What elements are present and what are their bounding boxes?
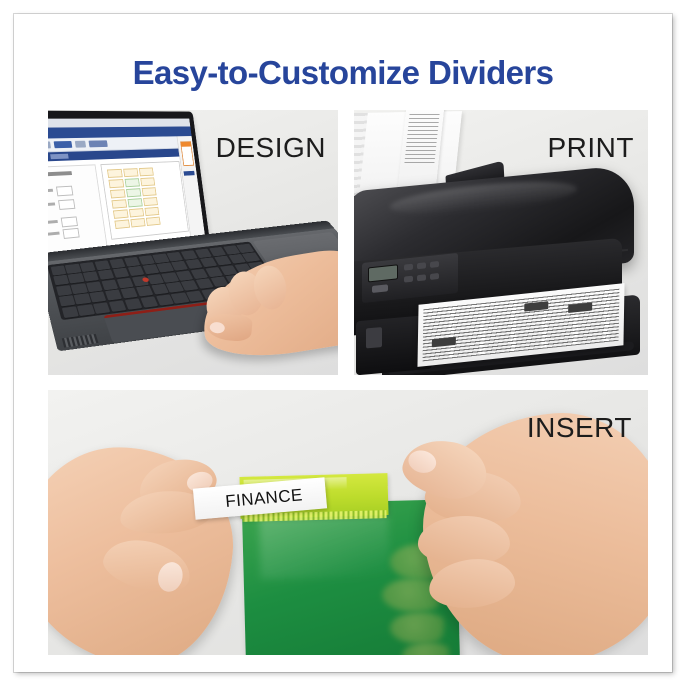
panel-label-print: PRINT xyxy=(548,132,635,164)
panel-insert: FINANCE INSERT xyxy=(48,390,648,655)
laptop-vents xyxy=(62,334,99,348)
grid-cell xyxy=(108,179,124,188)
panel-print: PRINT xyxy=(354,110,648,375)
form-title-placeholder xyxy=(48,171,72,176)
printer-button[interactable] xyxy=(372,284,388,293)
grid-cell xyxy=(125,178,140,187)
toolbar-item xyxy=(54,141,73,148)
memory-card-slot[interactable] xyxy=(366,327,382,348)
sheet-text-lines xyxy=(404,114,439,166)
printer-button[interactable] xyxy=(430,273,439,280)
grid-cell xyxy=(113,209,129,219)
grid-cell xyxy=(107,169,123,178)
grid-cell xyxy=(139,167,154,176)
grid-cell xyxy=(129,208,144,217)
toolbar-item xyxy=(89,140,108,147)
grid-cell xyxy=(126,188,141,197)
grid-cell xyxy=(145,207,160,216)
grid-cell xyxy=(130,218,145,227)
sidebar-action-button[interactable] xyxy=(184,171,195,176)
divider-preview-thumbnail xyxy=(180,141,194,166)
product-feature-image: Easy-to-Customize Dividers xyxy=(0,0,700,700)
panel-label-design: DESIGN xyxy=(216,132,326,164)
toolbar-item xyxy=(75,141,86,148)
grid-cell xyxy=(114,219,130,229)
printer-button[interactable] xyxy=(430,261,439,268)
printer-button[interactable] xyxy=(404,264,413,271)
toolbar-item xyxy=(48,141,51,148)
grid-cell xyxy=(110,189,126,198)
printer-button[interactable] xyxy=(417,274,426,281)
printer-button[interactable] xyxy=(404,276,413,283)
design-form-panel xyxy=(48,164,108,256)
grid-cell xyxy=(111,199,127,208)
panel-label-insert: INSERT xyxy=(527,412,632,444)
grid-cell xyxy=(128,198,143,207)
grid-cell xyxy=(140,177,155,186)
template-grid-preview xyxy=(100,161,188,240)
label-strip-text: FINANCE xyxy=(225,485,304,512)
content-card: Easy-to-Customize Dividers xyxy=(14,14,672,672)
secondary-bar-item xyxy=(50,154,69,159)
page-title: Easy-to-Customize Dividers xyxy=(14,54,672,92)
grid-cell xyxy=(142,187,157,196)
panel-design: DESIGN xyxy=(48,110,338,375)
hand-holding-label xyxy=(48,439,241,655)
printer-lcd-display xyxy=(368,264,398,282)
grid-cell xyxy=(146,217,161,226)
printer-button[interactable] xyxy=(417,262,426,269)
grid-cell xyxy=(143,197,158,206)
grid-cell xyxy=(123,168,138,177)
